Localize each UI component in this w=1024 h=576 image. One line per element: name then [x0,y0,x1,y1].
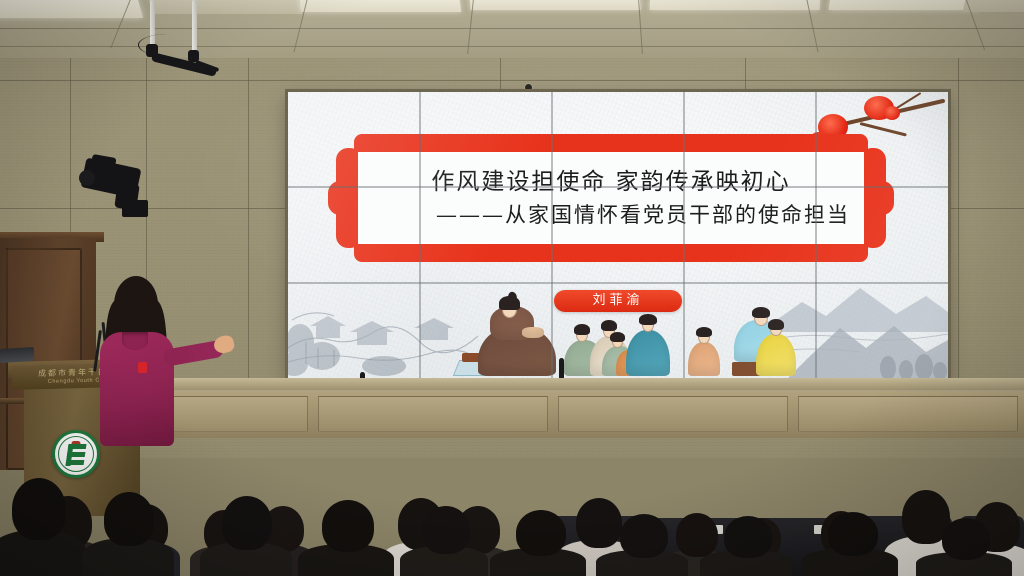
audience-person-front [490,516,586,576]
slide-title-line-2: ———从家国情怀看党员干部的使命担当 [360,199,850,229]
ceiling-light-panel [0,0,143,18]
presenter [92,276,222,446]
ceiling-light-panel [963,0,1024,12]
party-badge-icon [138,362,147,373]
slide-title-line-1: 作风建设担使命 家韵传承映初心 [360,162,862,196]
ceiling-light-panel [148,0,302,14]
mic-cable [138,34,196,56]
wall-seam [146,58,147,308]
podium-laptop[interactable] [0,347,34,363]
figure-yellow-robe [756,324,796,376]
ceiling-light-panel [299,0,462,12]
wall-seam [745,58,746,96]
video-wall-display[interactable]: 作风建设担使命 家韵传承映初心 ———从家国情怀看党员干部的使命担当 刘菲渝 [288,92,948,378]
dais-panel [558,396,788,432]
audience-person-front [200,502,292,576]
ceiling-light-panel [650,0,821,10]
ceiling-light-panel [829,0,982,10]
figure-listener-5 [626,314,670,376]
presentation-slide: 作风建设担使命 家韵传承映初心 ———从家国情怀看党员干部的使命担当 刘菲渝 [288,92,948,378]
lecture-hall-scene: 作风建设担使命 家韵传承映初心 ———从家国情怀看党员干部的使命担当 刘菲渝 [0,0,1024,576]
audience-person-front [0,476,86,576]
ink-wash-pavilion-landscape [288,270,478,378]
audience-person-front [400,512,488,576]
ceiling-sensor-icon [525,84,532,91]
camera-lens-icon [79,170,95,186]
figure-scholar-main [478,300,556,376]
dais-top [110,378,1024,390]
audience-area [0,430,1024,576]
presenter-hair-top [114,276,158,334]
camera-neck [114,182,139,211]
audience-person-front [700,522,792,576]
dais-panel [798,396,1018,432]
audience-person-front [596,520,688,576]
ink-landscape-band [288,270,948,378]
wall-seam [958,58,959,388]
presenter-collar [122,332,148,350]
figure-attendant [688,328,720,376]
ceiling-light-panel [469,0,640,10]
slide-title-frame: 作风建设担使命 家韵传承映初心 ———从家国情怀看党员干部的使命担当 [336,134,886,262]
audience-person-front [82,498,174,576]
wall-seam [248,58,249,378]
wall-seam [948,208,1024,209]
audience-person-front [916,524,1012,576]
dais-panel [318,396,548,432]
wall-seam [0,80,1024,81]
classical-scholars-illustration [456,284,796,376]
audience-person-front [802,518,898,576]
wall-seam [500,58,501,96]
audience-person-front [298,506,394,576]
